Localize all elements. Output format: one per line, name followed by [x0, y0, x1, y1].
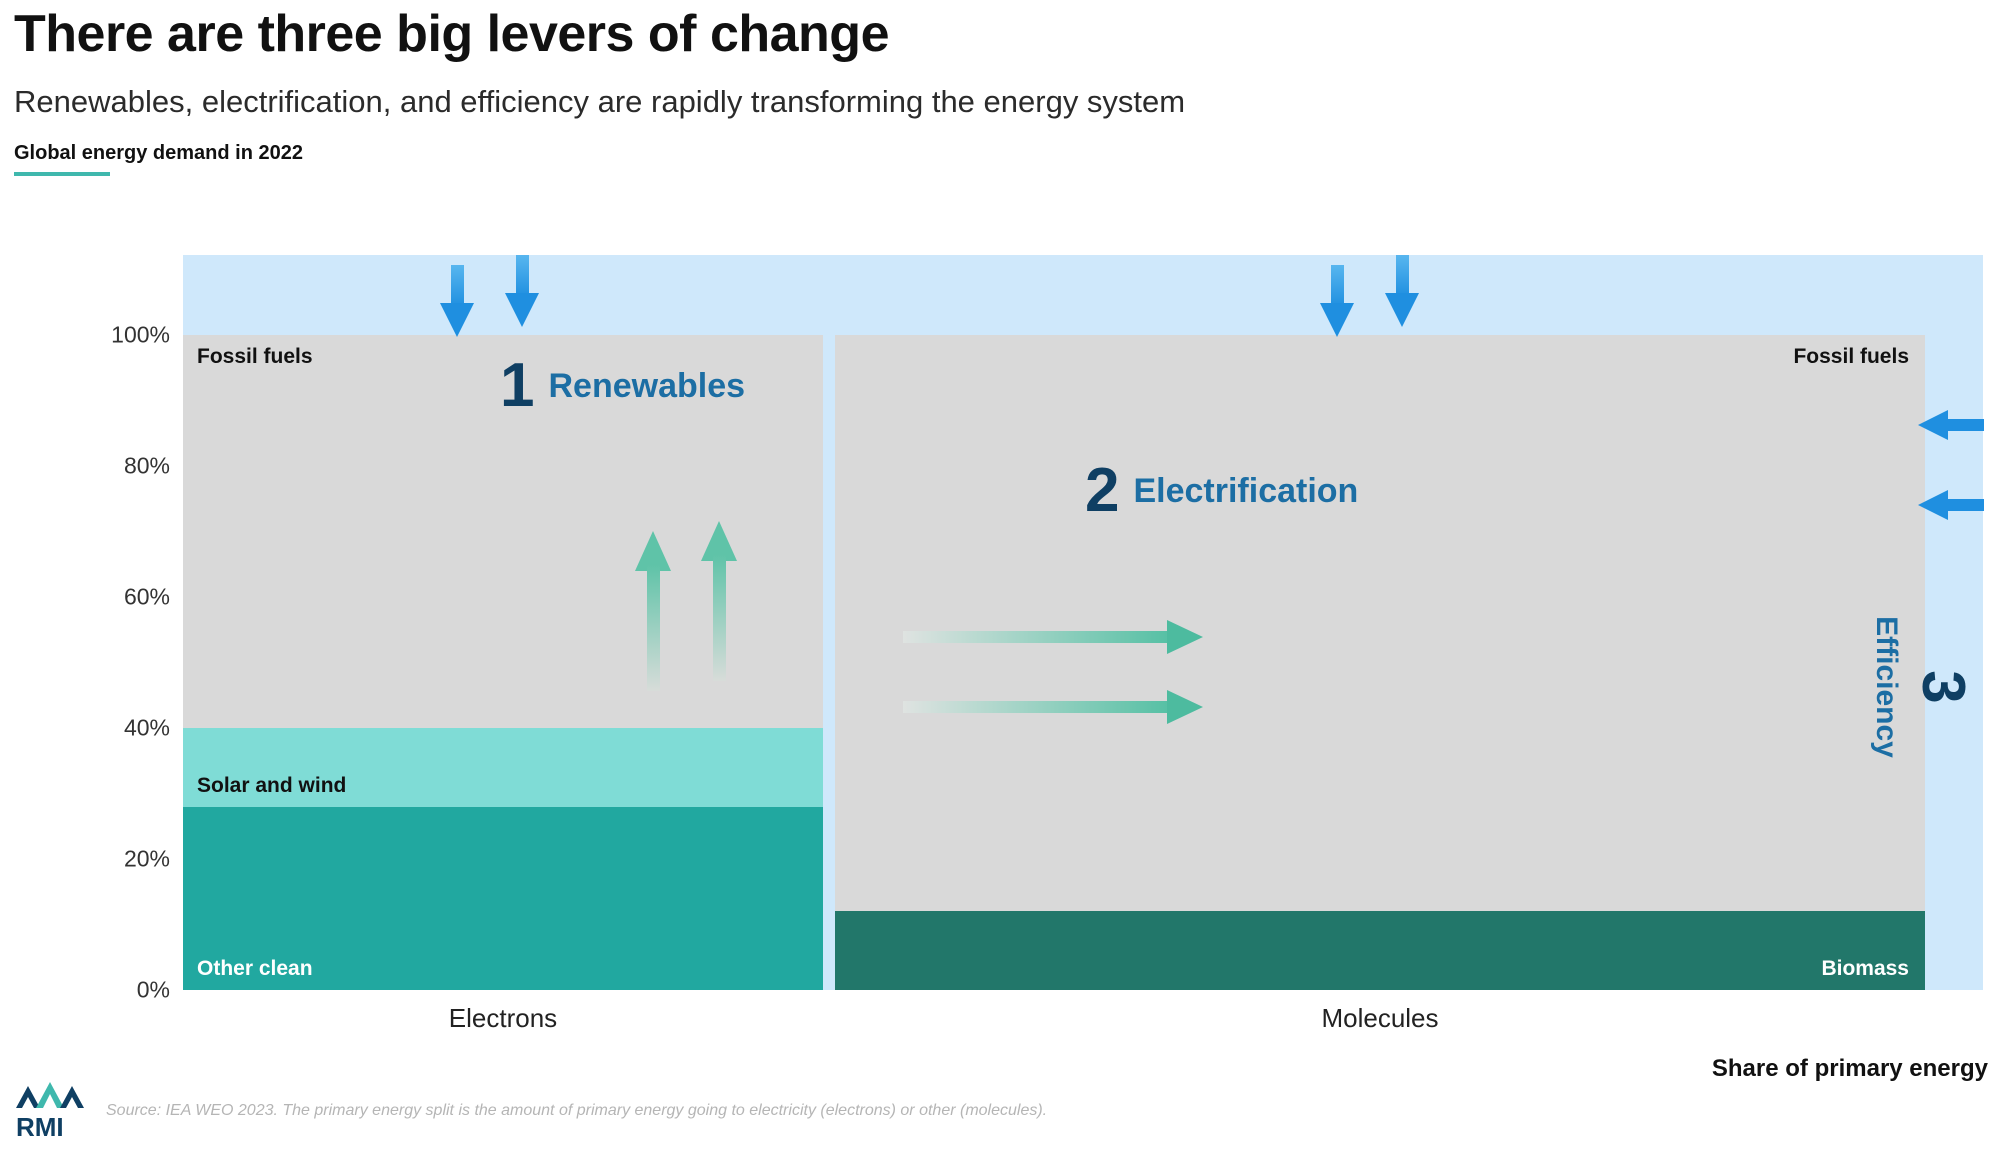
segment-label-fossil-fuels: Fossil fuels [197, 345, 313, 369]
y-tick-80: 80% [50, 453, 170, 480]
arrow-right-electrification-1 [903, 620, 1203, 654]
svg-text:RMI: RMI [16, 1112, 64, 1142]
rmi-logo: RMI [14, 1078, 88, 1144]
arrow-down-primary-energy-1 [440, 265, 474, 337]
chart-area: Share of final energy 100% 80% 60% 40% 2… [0, 255, 2000, 1055]
chart-eyebrow-underline [14, 172, 110, 176]
y-tick-20: 20% [50, 846, 170, 873]
arrow-up-renewables-1 [635, 531, 671, 691]
bar-column-molecules[interactable]: Fossil fuels Biomass [835, 335, 1925, 990]
segment-molecules-biomass[interactable]: Biomass [835, 911, 1925, 990]
lever-number-2: 2 [1085, 460, 1119, 522]
lever-number-3: 3 [1913, 670, 1973, 703]
segment-label-solar-and-wind: Solar and wind [197, 774, 346, 798]
x-axis-label-molecules: Molecules [835, 1003, 1925, 1034]
y-tick-40: 40% [50, 715, 170, 742]
footer: RMI Source: IEA WEO 2023. The primary en… [14, 1078, 1047, 1144]
arrow-down-primary-energy-2 [505, 255, 539, 327]
arrow-up-renewables-2 [701, 521, 737, 681]
arrow-right-electrification-2 [903, 690, 1203, 724]
x-axis-title: Share of primary energy [1712, 1055, 1988, 1083]
page-title: There are three big levers of change [14, 6, 1714, 62]
arrow-down-primary-energy-4 [1385, 255, 1419, 327]
segment-electrons-solar-and-wind[interactable]: Solar and wind [183, 728, 823, 807]
page-subtitle: Renewables, electrification, and efficie… [14, 84, 1714, 120]
arrow-left-efficiency-2 [1918, 490, 1984, 520]
lever-label-renewables: Renewables [548, 367, 745, 406]
lever-callout-electrification: 2 Electrification [1085, 460, 1358, 522]
y-tick-60: 60% [50, 584, 170, 611]
arrow-left-efficiency-1 [1918, 410, 1984, 440]
x-axis-label-electrons: Electrons [183, 1003, 823, 1034]
segment-label-fossil-fuels-molecules: Fossil fuels [1793, 345, 1909, 369]
segment-electrons-other-clean[interactable]: Other clean [183, 807, 823, 990]
lever-callout-renewables: 1 Renewables [500, 355, 745, 417]
lever-label-efficiency: Efficiency [1869, 616, 1903, 758]
y-tick-0: 0% [50, 977, 170, 1004]
y-axis-ticks: 100% 80% 60% 40% 20% 0% [40, 335, 170, 990]
chart-eyebrow-label: Global energy demand in 2022 [14, 142, 303, 172]
header: There are three big levers of change Ren… [14, 6, 1714, 176]
segment-label-other-clean: Other clean [197, 957, 313, 981]
chart-eyebrow-group: Global energy demand in 2022 [14, 142, 303, 176]
plot-region: Fossil fuels Solar and wind Other clean … [183, 335, 1925, 990]
lever-callout-efficiency: 3 Efficiency [1869, 616, 1973, 758]
lever-number-1: 1 [500, 355, 534, 417]
segment-label-biomass: Biomass [1821, 957, 1909, 981]
arrow-down-primary-energy-3 [1320, 265, 1354, 337]
y-tick-100: 100% [50, 322, 170, 349]
source-note: Source: IEA WEO 2023. The primary energy… [106, 1102, 1047, 1120]
lever-label-electrification: Electrification [1133, 472, 1358, 511]
